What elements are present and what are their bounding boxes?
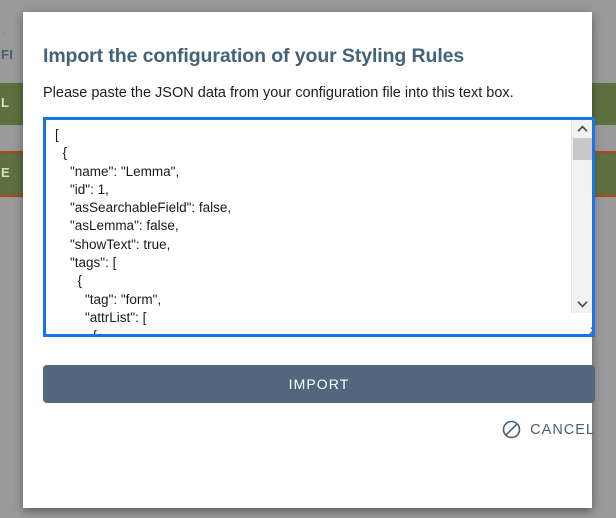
chevron-up-icon [577, 125, 588, 133]
cancel-label: CANCEL [530, 422, 595, 438]
background-band-right-1 [592, 83, 616, 125]
dialog-subtitle: Please paste the JSON data from your con… [43, 68, 572, 101]
background-band-right-2 [592, 153, 616, 195]
textarea-scrollbar[interactable] [571, 120, 592, 334]
textarea-resize-handle[interactable] [571, 313, 592, 334]
scrollbar-thumb[interactable] [573, 138, 592, 160]
scroll-up-button[interactable] [572, 120, 593, 137]
background-label-fi: FI [1, 47, 23, 62]
json-textarea-container [43, 117, 595, 337]
import-button[interactable]: IMPORT [43, 365, 595, 403]
import-configuration-dialog: Import the configuration of your Styling… [23, 12, 592, 508]
cancel-button[interactable]: CANCEL [502, 420, 595, 439]
background-label-l: L [1, 95, 23, 110]
chevron-down-icon [577, 300, 588, 308]
background-rule-right-2 [592, 195, 616, 197]
json-input[interactable] [46, 120, 571, 334]
background-faint-glyph: ‹ [2, 26, 6, 40]
cancel-row: CANCEL [43, 420, 595, 439]
background-rule-left-2 [0, 195, 23, 197]
scroll-down-button[interactable] [572, 295, 593, 312]
background-label-e: E [1, 165, 23, 180]
dialog-title: Import the configuration of your Styling… [43, 12, 572, 68]
prohibited-icon [502, 420, 521, 439]
